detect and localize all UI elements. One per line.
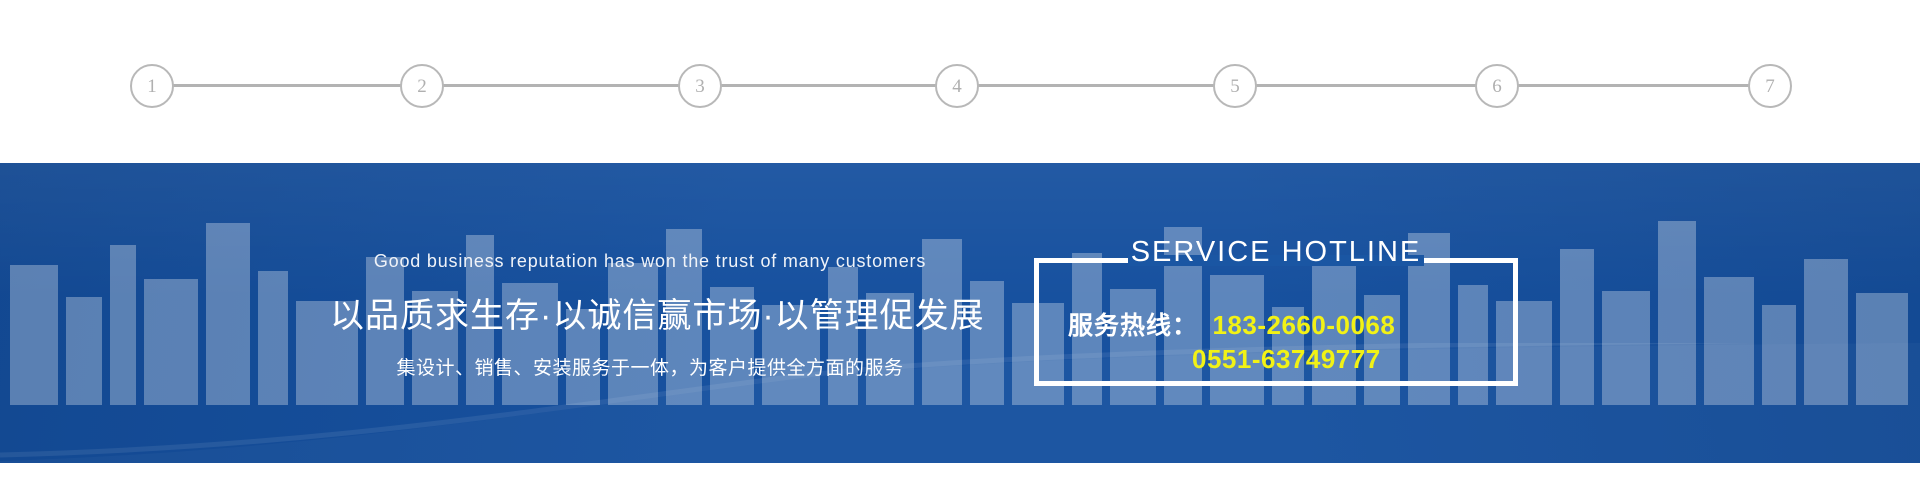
step-node-2-label: 2	[417, 77, 427, 96]
step-node-7-label: 7	[1765, 77, 1775, 96]
hotline-row-primary: 服务热线： 183-2660-0068	[1068, 306, 1488, 342]
blue-banner: Good business reputation has won the tru…	[0, 163, 1920, 463]
hotline-phone-primary[interactable]: 183-2660-0068	[1212, 310, 1395, 340]
hotline-row-secondary: 0551-63749777	[1068, 344, 1488, 375]
slogan-chinese-sub: 集设计、销售、安装服务于一体，为客户提供全方面的服务	[330, 353, 970, 380]
step-node-6[interactable]: 6	[1475, 64, 1519, 108]
step-node-4[interactable]: 4	[935, 64, 979, 108]
hotline-phone-secondary[interactable]: 0551-63749777	[1192, 344, 1381, 375]
hotline-title: SERVICE HOTLINE	[1034, 236, 1518, 269]
step-node-3[interactable]: 3	[678, 64, 722, 108]
step-node-2[interactable]: 2	[400, 64, 444, 108]
step-node-3-label: 3	[695, 77, 705, 96]
step-node-5-label: 5	[1230, 77, 1240, 96]
banner-page: 1 2 3 4 5 6 7	[0, 0, 1920, 500]
step-node-4-label: 4	[952, 77, 962, 96]
hotline-label: 服务热线：	[1068, 312, 1198, 340]
step-node-5[interactable]: 5	[1213, 64, 1257, 108]
step-node-1-label: 1	[147, 77, 157, 96]
step-indicator: 1 2 3 4 5 6 7	[0, 0, 1920, 163]
slogan-block: Good business reputation has won the tru…	[330, 251, 970, 380]
step-node-1[interactable]: 1	[130, 64, 174, 108]
hotline-card: SERVICE HOTLINE 服务热线： 183-2660-0068 0551…	[1034, 258, 1518, 386]
slogan-english: Good business reputation has won the tru…	[330, 251, 970, 272]
step-node-6-label: 6	[1492, 77, 1502, 96]
slogan-chinese-main: 以品质求生存·以诚信赢市场·以管理促发展	[330, 288, 970, 337]
step-node-7[interactable]: 7	[1748, 64, 1792, 108]
